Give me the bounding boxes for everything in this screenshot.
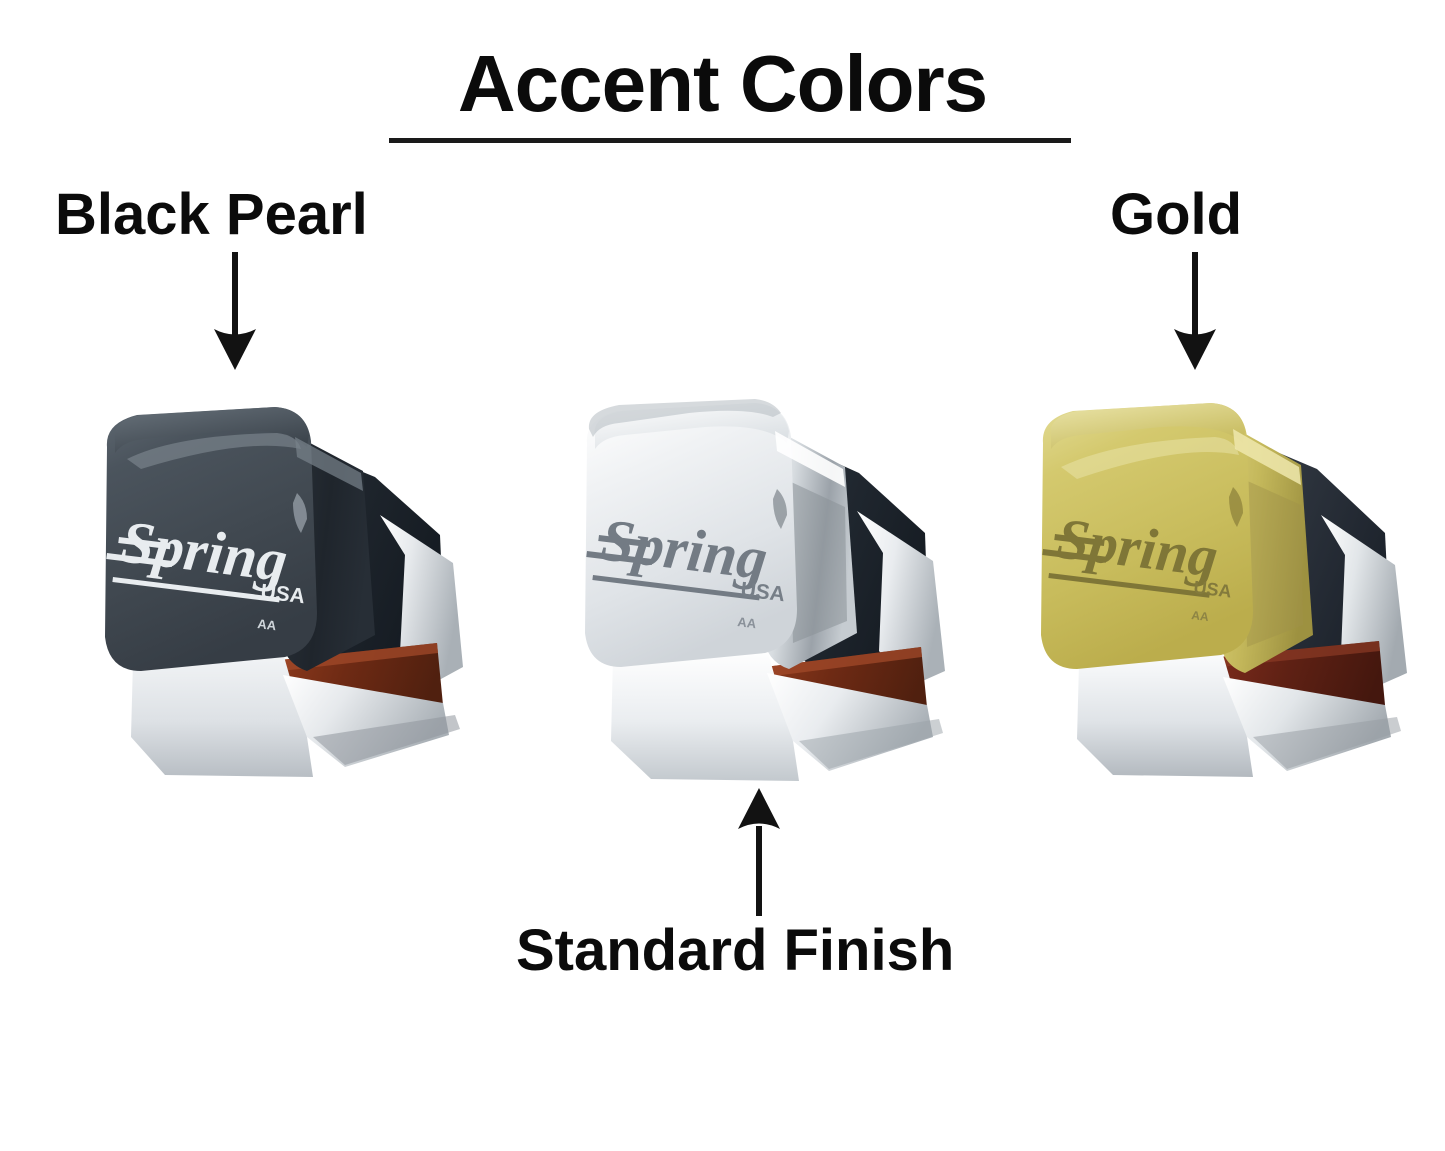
callout-label-standard-finish: Standard Finish [516,922,954,980]
arrow-down-icon [207,252,263,375]
title-underline-rule [389,138,1071,143]
product-dome-side-shade [789,481,847,643]
callout-label-gold: Gold [1110,186,1242,244]
arrow-down-icon [1167,252,1223,375]
page-title: Accent Colors [0,44,1445,124]
product-image-standard-finish: Spring USA AA [527,385,967,785]
product-pedestal [1077,655,1253,777]
product-pedestal [131,653,313,777]
arrow-up-icon [731,788,787,921]
product-image-gold: Spring USA AA [987,385,1427,785]
product-image-black-pearl: Spring USA AA [45,385,485,785]
product-pedestal [611,649,799,781]
product-dome-front [585,403,797,667]
callout-label-black-pearl: Black Pearl [55,186,368,244]
